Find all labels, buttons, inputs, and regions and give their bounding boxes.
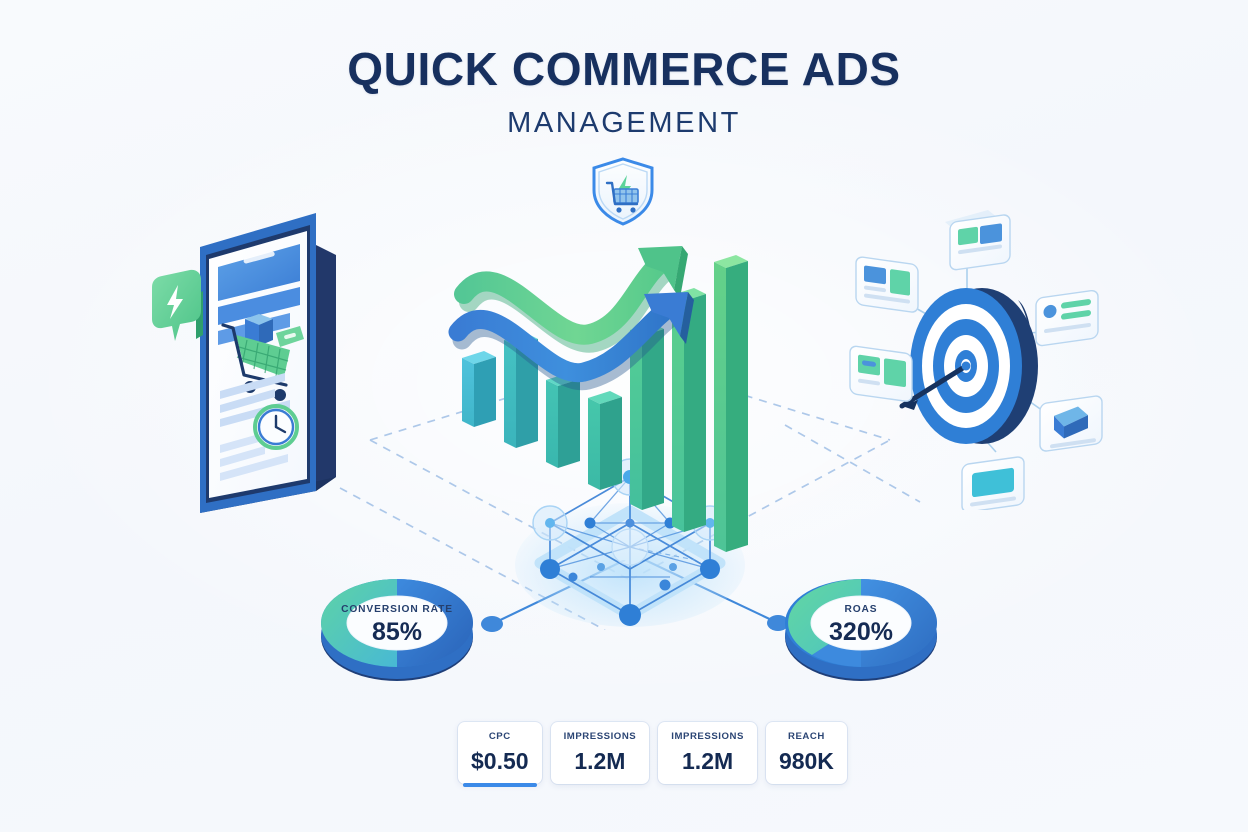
infographic-canvas: QUICK COMMERCE ADS MANAGEMENT <box>0 0 1248 832</box>
metric-label: CPC <box>471 732 529 742</box>
ad-card-left <box>850 345 912 402</box>
metric-card-cpc[interactable]: CPC $0.50 <box>458 722 542 784</box>
page-subtitle: MANAGEMENT <box>0 109 1248 138</box>
ad-card-right-lower <box>1040 395 1102 452</box>
shield-cart-bolt-icon <box>586 154 660 228</box>
metric-value: $0.50 <box>471 750 529 773</box>
metric-card-impressions-2[interactable]: IMPRESSIONS 1.2M <box>658 722 757 784</box>
metric-value: 1.2M <box>671 750 744 773</box>
growth-bar-chart <box>430 240 760 570</box>
metric-label: IMPRESSIONS <box>671 732 744 742</box>
metric-value: 1.2M <box>564 750 637 773</box>
ad-card-upper-left <box>856 256 918 313</box>
ad-card-top <box>945 210 1010 271</box>
conversion-rate-donut: CONVERSION RATE 85% <box>318 565 476 685</box>
metric-label: IMPRESSIONS <box>564 732 637 742</box>
metric-card-impressions-1[interactable]: IMPRESSIONS 1.2M <box>551 722 650 784</box>
metric-card-row: CPC $0.50 IMPRESSIONS 1.2M IMPRESSIONS 1… <box>458 722 847 784</box>
connector-dot-left <box>481 616 503 632</box>
isometric-phone-mockup <box>140 195 370 535</box>
ad-card-right-upper <box>1036 290 1098 347</box>
roas-donut: ROAS 320% <box>782 565 940 685</box>
ad-card-bottom <box>962 456 1024 510</box>
metric-value: 980K <box>779 750 834 773</box>
page-title: QUICK COMMERCE ADS <box>0 46 1248 92</box>
lightning-speech-bubble-icon <box>152 270 203 341</box>
target-rings <box>910 288 1038 444</box>
isometric-target-board <box>840 210 1120 510</box>
metric-card-reach[interactable]: REACH 980K <box>766 722 847 784</box>
header: QUICK COMMERCE ADS MANAGEMENT <box>0 46 1248 138</box>
metric-label: REACH <box>779 732 834 742</box>
